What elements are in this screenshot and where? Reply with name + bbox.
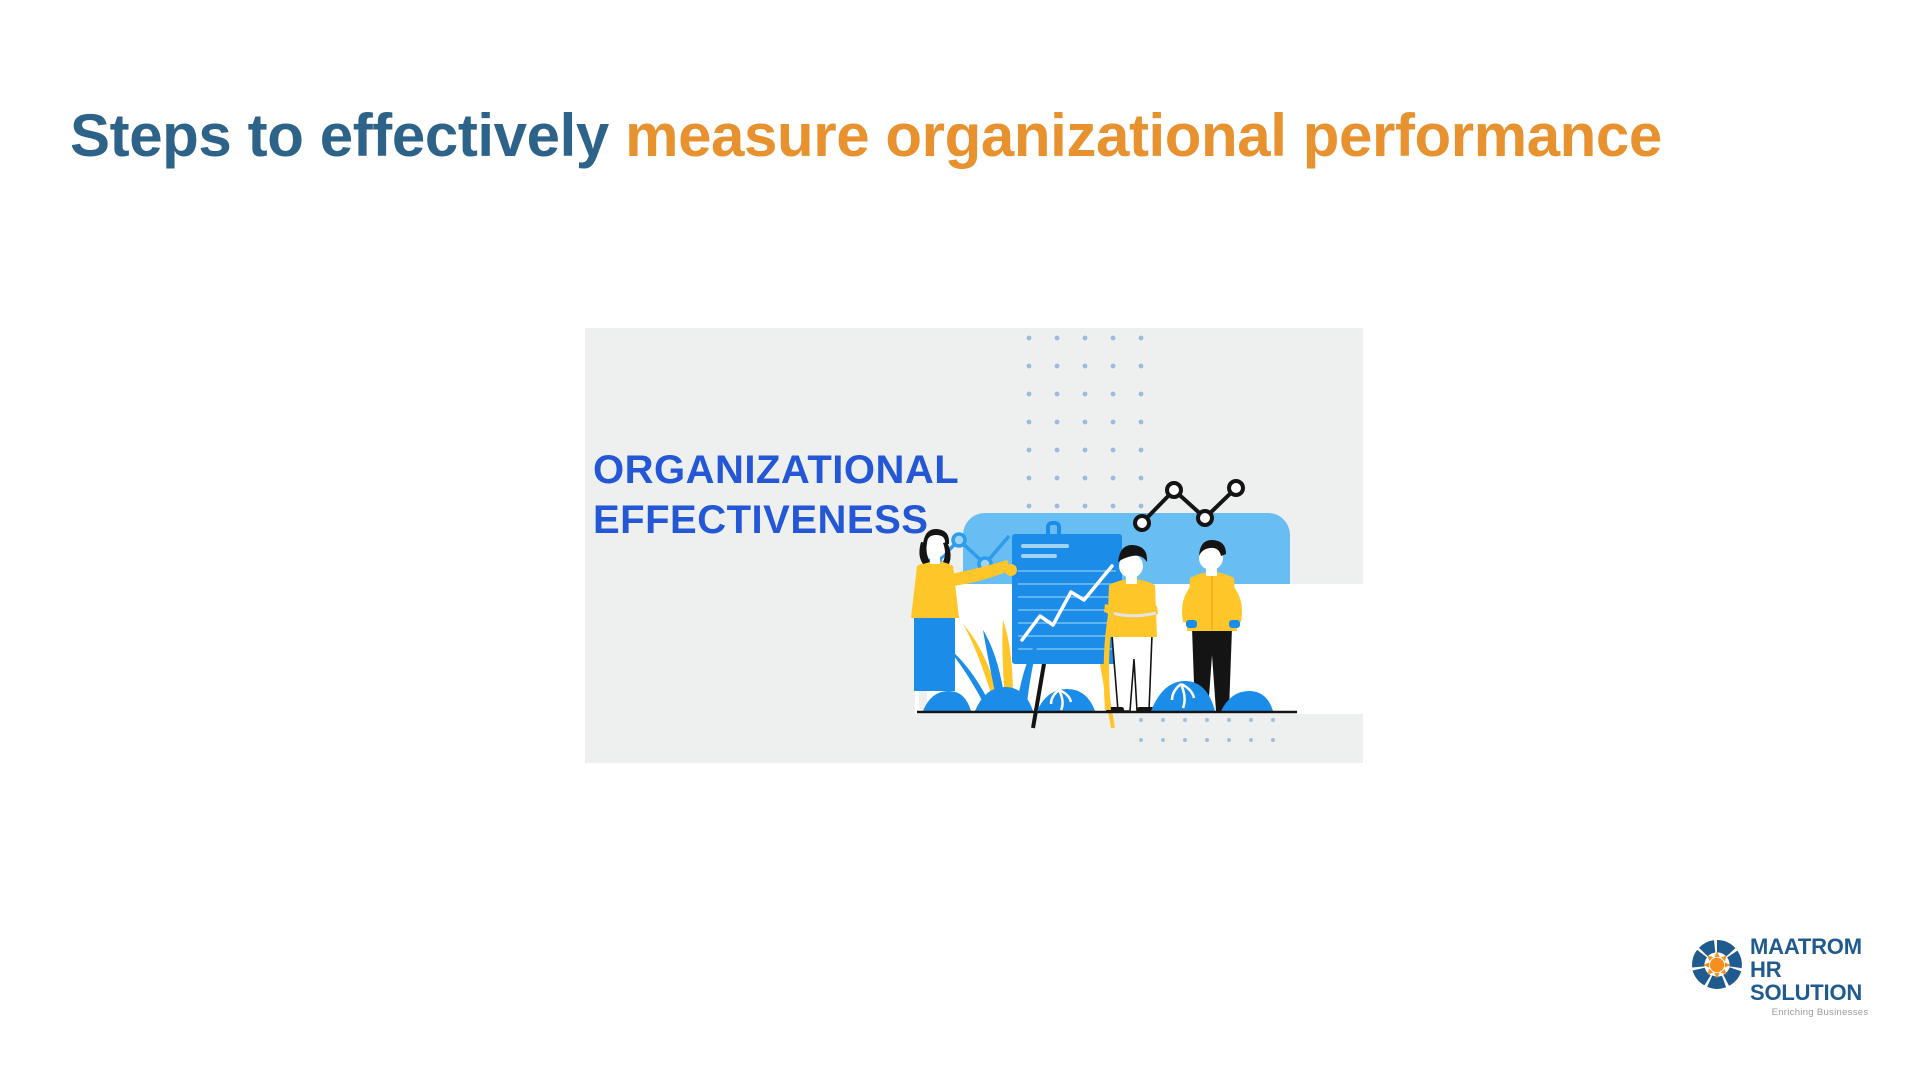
logo-line-1: MAATROM (1750, 936, 1890, 958)
illustration-heading-line1: ORGANIZATIONAL (593, 448, 959, 492)
page-title: Steps to effectively measure organizatio… (70, 104, 1880, 167)
title-segment-accent: measure organizational performance (625, 102, 1662, 169)
maatrom-gear-icon (1690, 938, 1744, 992)
slide-canvas: Steps to effectively measure organizatio… (0, 0, 1920, 1080)
illustration-heading-line2: EFFECTIVENESS (593, 498, 928, 542)
title-segment-primary: Steps to effectively (70, 102, 625, 169)
company-logo: MAATROM HR SOLUTION Enriching Businesses (1690, 936, 1890, 998)
logo-wordmark: MAATROM HR SOLUTION Enriching Businesses (1750, 936, 1890, 1018)
illustration-image: ORGANIZATIONAL EFFECTIVENESS (585, 328, 1363, 763)
logo-line-2: HR SOLUTION (1750, 958, 1890, 1004)
logo-tagline: Enriching Businesses (1750, 1007, 1890, 1018)
